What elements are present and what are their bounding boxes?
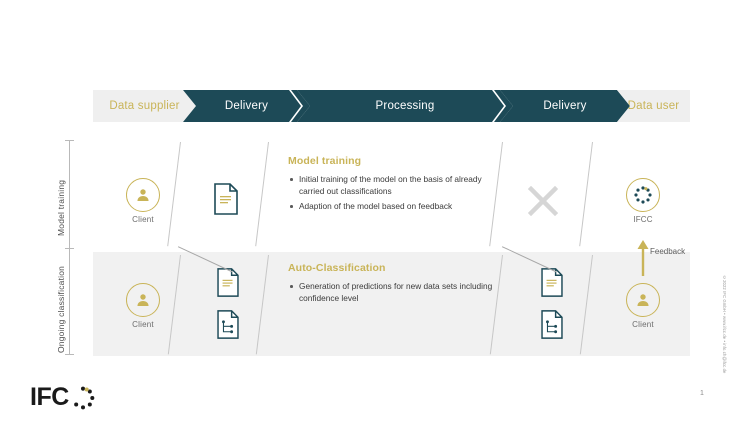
banner-label-processing: Processing	[376, 100, 435, 112]
banner-segment-delivery-1[interactable]: Delivery	[183, 90, 310, 122]
auto-classification-client-right-caption: Client	[618, 320, 668, 329]
model-training-client-caption: Client	[118, 215, 168, 224]
column-divider-4a	[579, 142, 593, 246]
banner-label-delivery-2: Delivery	[543, 100, 586, 112]
page-number: 1	[700, 390, 704, 397]
auto-classification-delivery-document-in	[534, 268, 570, 302]
x-mark-icon	[528, 186, 558, 216]
model-training-bullets: Initial training of the model on the bas…	[288, 173, 503, 212]
document-tree-icon	[216, 310, 240, 339]
person-icon	[126, 283, 160, 317]
auto-classification-document-out	[210, 310, 246, 344]
ifcc-dots-icon	[626, 178, 660, 212]
model-training-ifcc: IFCC	[618, 178, 668, 224]
model-training-bullet-2: Adaption of the model based on feedback	[288, 200, 503, 212]
column-divider-1a	[167, 142, 181, 246]
banner-segment-data-supplier[interactable]: Data supplier	[93, 90, 196, 122]
auto-classification-bullet-1: Generation of predictions for new data s…	[288, 280, 503, 304]
auto-classification-document-in	[210, 268, 246, 302]
model-training-ifcc-caption: IFCC	[618, 215, 668, 224]
document-icon	[213, 183, 239, 215]
auto-classification-client-caption: Client	[118, 320, 168, 329]
auto-classification-client: Client	[118, 283, 168, 329]
auto-classification-bullets: Generation of predictions for new data s…	[288, 280, 503, 304]
auto-classification-title: Auto-Classification	[288, 262, 503, 274]
model-training-text: Model training Initial training of the m…	[288, 155, 503, 215]
feedback-label: Feedback	[650, 247, 685, 256]
copyright-notice: ©2022 IFC GmbH • www.ifcc.de • info.ch@i…	[722, 275, 727, 373]
model-training-client: Client	[118, 178, 168, 224]
model-training-document	[208, 183, 244, 220]
ifc-logo-text: IFC	[30, 385, 69, 410]
axis-cap-bottom	[65, 354, 74, 355]
banner-label-delivery-1: Delivery	[225, 100, 268, 112]
banner-label-data-supplier: Data supplier	[109, 100, 179, 112]
person-icon	[626, 283, 660, 317]
slide-canvas: Data supplier Delivery Processing Delive…	[0, 0, 750, 422]
model-training-bullet-1: Initial training of the model on the bas…	[288, 173, 503, 197]
person-icon	[126, 178, 160, 212]
process-banner: Data supplier Delivery Processing Delive…	[93, 90, 690, 122]
feedback-arrow	[636, 238, 650, 281]
no-delivery-marker	[528, 186, 558, 221]
axis-line-model-training	[69, 140, 70, 248]
ifc-dots-icon	[70, 385, 96, 411]
model-training-title: Model training	[288, 155, 503, 167]
arrow-up-icon	[636, 238, 650, 276]
column-divider-2a	[255, 142, 269, 246]
document-tree-icon	[540, 310, 564, 339]
auto-classification-text: Auto-Classification Generation of predic…	[288, 262, 503, 307]
banner-label-data-user: Data user	[628, 100, 680, 112]
auto-classification-delivery-document-out	[534, 310, 570, 344]
axis-line-ongoing	[69, 248, 70, 355]
axis-label-ongoing-classification: Ongoing classification	[56, 258, 66, 353]
banner-segment-processing[interactable]: Processing	[297, 90, 513, 122]
ifc-logo: IFC	[30, 383, 96, 411]
document-icon	[216, 268, 240, 297]
document-icon	[540, 268, 564, 297]
auto-classification-client-right: Client	[618, 283, 668, 329]
banner-segment-delivery-2[interactable]: Delivery	[500, 90, 630, 122]
axis-label-model-training: Model training	[56, 156, 66, 236]
